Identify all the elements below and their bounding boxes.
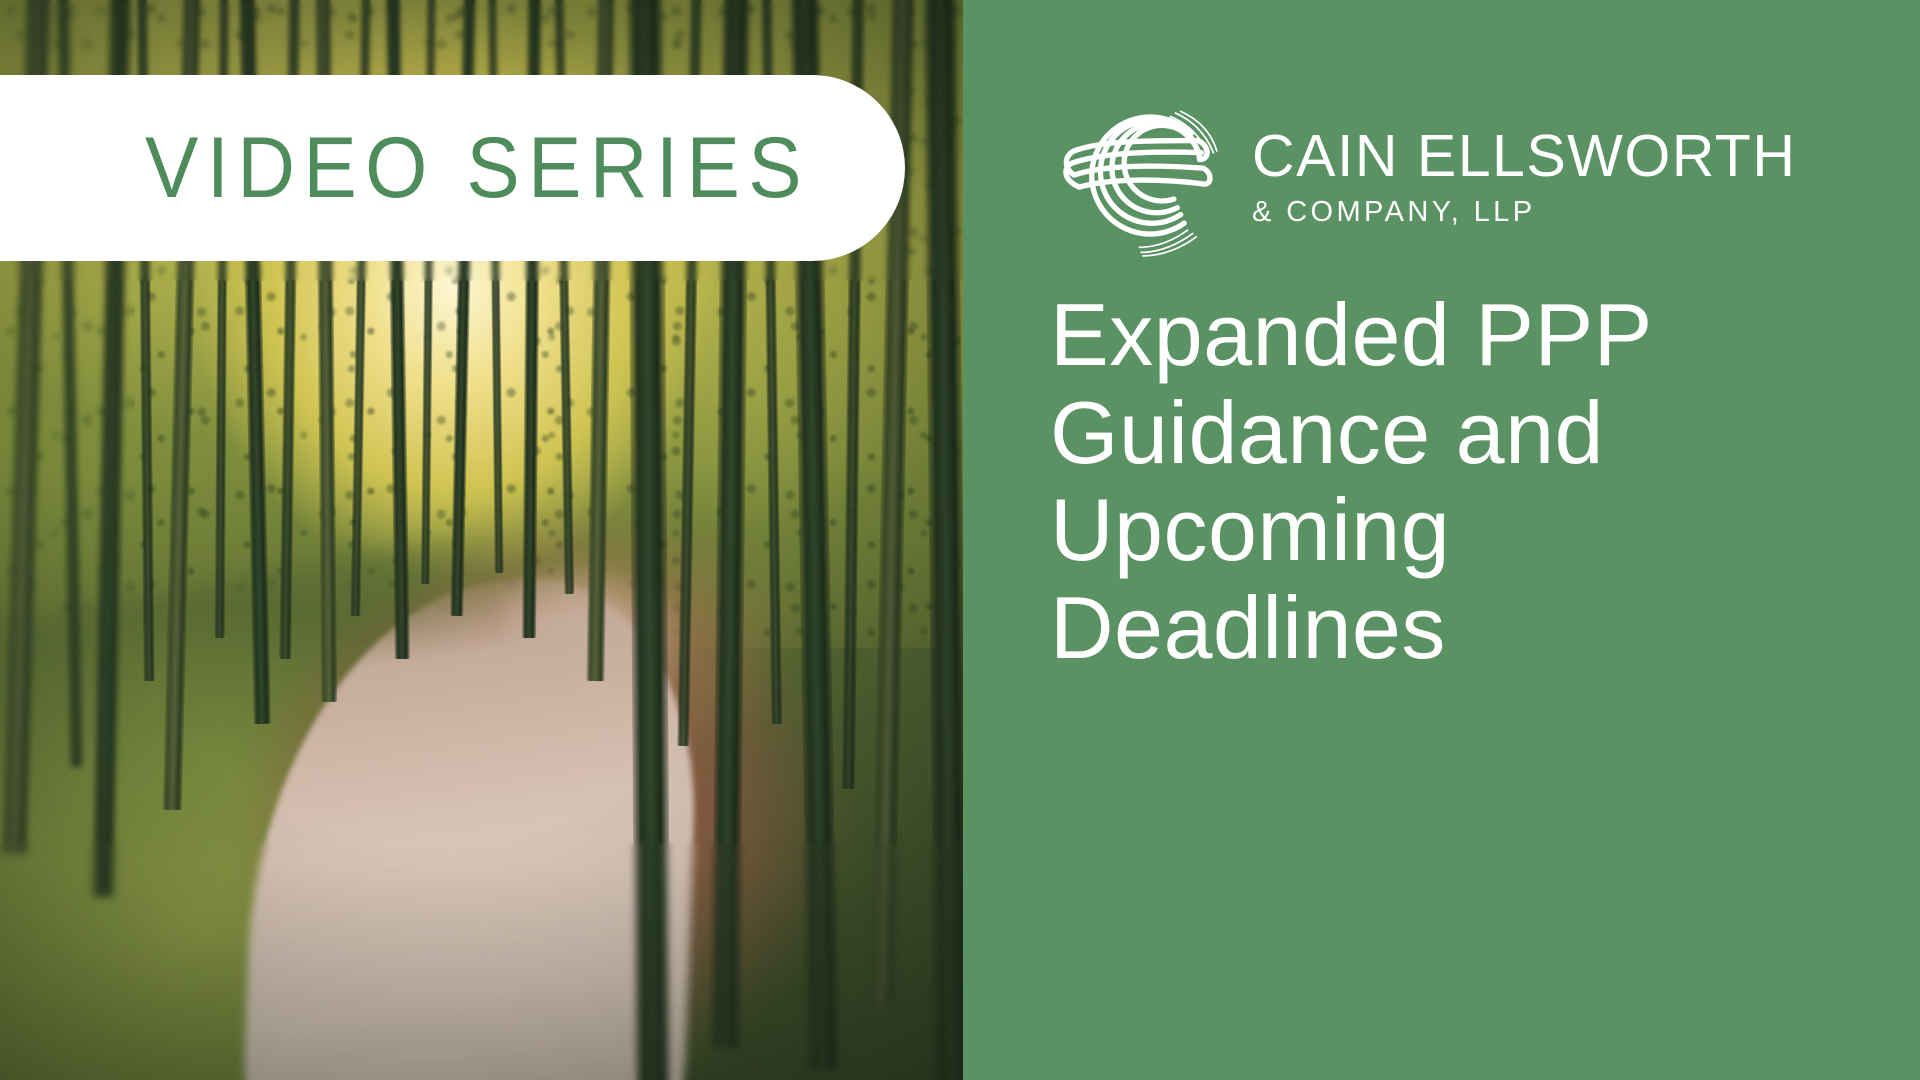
- title-line-1: Expanded PPP: [1050, 286, 1850, 384]
- cain-ellsworth-woven-c-monogram-icon: [1050, 86, 1222, 264]
- video-series-badge: VIDEO SERIES: [0, 75, 905, 261]
- title-line-2: Guidance and: [1050, 384, 1850, 482]
- forest-photo-panel: VIDEO SERIES: [0, 0, 963, 1080]
- video-series-badge-label: VIDEO SERIES: [145, 125, 810, 211]
- company-suffix: & COMPANY, LLP: [1252, 198, 1796, 227]
- title-card-slide: VIDEO SERIES: [0, 0, 1920, 1080]
- brand-lockup: CAIN ELLSWORTH & COMPANY, LLP: [1050, 86, 1796, 264]
- brand-text-block: CAIN ELLSWORTH & COMPANY, LLP: [1252, 123, 1796, 227]
- title-line-4: Deadlines: [1050, 579, 1850, 677]
- company-name: CAIN ELLSWORTH: [1252, 127, 1796, 186]
- title-line-3: Upcoming: [1050, 481, 1850, 579]
- page-title: Expanded PPP Guidance and Upcoming Deadl…: [1050, 286, 1850, 677]
- green-content-panel: CAIN ELLSWORTH & COMPANY, LLP Expanded P…: [963, 0, 1920, 1080]
